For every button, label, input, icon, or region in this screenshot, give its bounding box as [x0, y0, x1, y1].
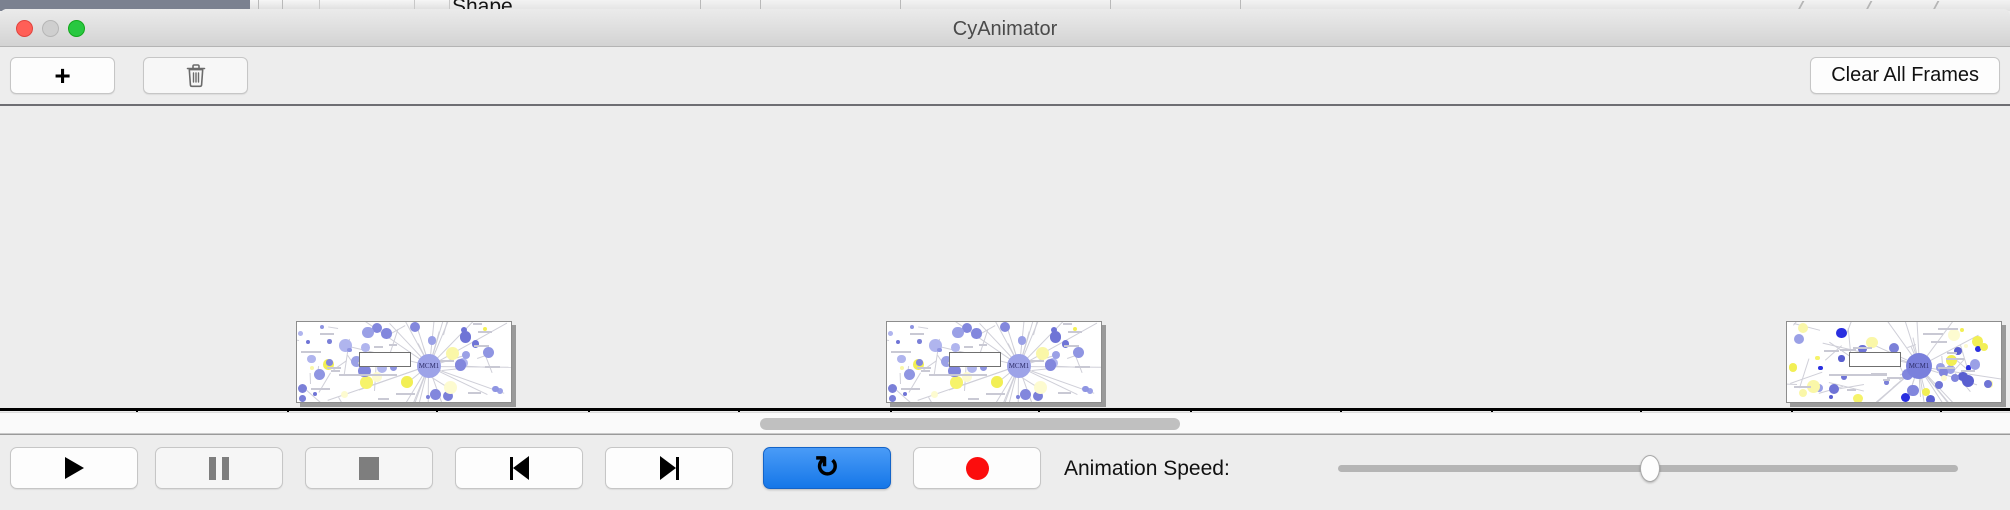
network-node — [1980, 343, 1988, 351]
play-button[interactable] — [10, 447, 138, 489]
timeline-scrollbar[interactable] — [0, 412, 2010, 434]
network-node — [1853, 394, 1862, 403]
window-title: CyAnimator — [0, 18, 2010, 41]
trash-icon — [185, 63, 207, 88]
animation-speed-label: Animation Speed: — [1064, 457, 1230, 481]
network-node — [381, 328, 391, 338]
loop-button[interactable]: ↻ — [763, 447, 891, 489]
network-node — [426, 395, 431, 400]
network-node — [314, 369, 326, 381]
network-node — [298, 384, 308, 394]
network-node — [401, 376, 413, 388]
add-frame-button[interactable]: + — [10, 57, 115, 94]
network-node — [492, 386, 498, 392]
playback-bar: ↻ Animation Speed: — [0, 434, 2010, 502]
network-node — [1829, 384, 1839, 394]
timeline-axis — [0, 408, 2010, 411]
network-node — [1941, 375, 1947, 381]
network-node — [310, 366, 314, 370]
network-node — [1836, 328, 1846, 338]
network-node — [1050, 331, 1062, 343]
network-node — [1829, 395, 1833, 399]
network-node — [430, 389, 441, 400]
network-hub-node: MCM1 — [417, 354, 441, 378]
network-node — [460, 331, 472, 343]
network-node — [462, 351, 470, 359]
network-node — [1960, 328, 1964, 332]
network-node — [900, 366, 904, 370]
record-button[interactable] — [913, 447, 1041, 489]
network-node — [1935, 381, 1943, 389]
network-node — [952, 327, 963, 338]
skip-start-button[interactable] — [455, 447, 583, 489]
network-node — [313, 392, 317, 396]
network-thumbnail-graphic: MCM1 — [1787, 322, 2001, 402]
network-node — [971, 328, 981, 338]
network-node — [1815, 356, 1819, 360]
skip-start-icon — [510, 456, 529, 480]
network-node — [320, 325, 324, 329]
network-node — [917, 339, 922, 344]
cyanimator-screen: Shape CyAnimator + — [0, 0, 2010, 510]
network-node — [1045, 359, 1057, 371]
title-bar: CyAnimator — [0, 9, 2010, 47]
network-node — [1789, 363, 1797, 371]
network-hub-node: MCM1 — [1007, 354, 1031, 378]
delete-frame-button[interactable] — [143, 57, 248, 94]
record-icon — [966, 457, 989, 480]
network-node — [951, 343, 960, 352]
network-node — [1073, 347, 1084, 358]
network-node — [991, 376, 1003, 388]
network-node — [937, 348, 942, 353]
network-node — [1907, 385, 1919, 397]
network-node — [1962, 375, 1974, 387]
timeline-panel[interactable]: MCM1MCM1MCM1 2131415161718 Seconds — [0, 106, 2010, 412]
network-node — [1020, 389, 1031, 400]
network-node — [1794, 334, 1804, 344]
network-node — [950, 376, 963, 389]
network-node — [910, 325, 914, 329]
network-node — [1838, 355, 1844, 361]
frame-canvas: MCM1 — [886, 321, 1102, 403]
network-node — [888, 384, 898, 394]
network-node — [903, 392, 907, 396]
network-node — [1970, 359, 1980, 369]
network-node — [1964, 344, 1968, 348]
clear-all-frames-button[interactable]: Clear All Frames — [1810, 57, 2000, 94]
network-node — [1016, 395, 1021, 400]
stop-button[interactable] — [305, 447, 433, 489]
network-node — [1948, 329, 1960, 341]
timeline-frame-thumbnail[interactable]: MCM1 — [296, 321, 516, 407]
frame-canvas: MCM1 — [1786, 321, 2002, 403]
network-node — [888, 331, 893, 336]
network-node — [931, 391, 938, 398]
cyanimator-window: CyAnimator + Clear All Frames MCM1MCM1MC… — [0, 9, 2010, 510]
network-node — [916, 359, 923, 366]
pause-button[interactable] — [155, 447, 283, 489]
frames-toolbar: + Clear All Frames — [0, 47, 2010, 104]
network-node — [1922, 388, 1930, 396]
network-node — [1799, 389, 1807, 397]
timeline-frame-thumbnail[interactable]: MCM1 — [886, 321, 1106, 407]
network-tooltip — [949, 352, 1001, 367]
network-node — [1034, 381, 1047, 394]
network-node — [896, 340, 901, 345]
animation-speed-slider-thumb[interactable] — [1640, 455, 1660, 482]
plus-icon: + — [54, 62, 70, 90]
network-node — [1946, 355, 1957, 366]
skip-end-button[interactable] — [605, 447, 733, 489]
network-node — [1818, 366, 1822, 370]
frame-canvas: MCM1 — [296, 321, 512, 403]
network-node — [306, 340, 311, 345]
network-node — [327, 339, 332, 344]
network-node — [904, 369, 916, 381]
network-node — [362, 327, 373, 338]
network-node — [889, 395, 896, 402]
network-node — [360, 376, 373, 389]
network-node — [299, 395, 306, 402]
network-thumbnail-graphic: MCM1 — [887, 322, 1101, 402]
network-node — [341, 391, 348, 398]
loop-icon: ↻ — [814, 453, 839, 483]
pause-icon — [209, 457, 229, 480]
network-hub-node: MCM1 — [1906, 353, 1932, 379]
network-thumbnail-graphic: MCM1 — [297, 322, 511, 402]
network-node — [1798, 323, 1808, 333]
network-node — [326, 359, 333, 366]
network-node — [1984, 380, 1992, 388]
scrollbar-thumb[interactable] — [760, 418, 1180, 430]
skip-end-icon — [660, 456, 679, 480]
network-node — [361, 343, 370, 352]
network-node — [1082, 386, 1088, 392]
network-node — [298, 331, 303, 336]
network-node — [444, 381, 457, 394]
stop-icon — [359, 457, 379, 480]
network-node — [1926, 395, 1935, 403]
network-node — [347, 348, 352, 353]
network-node — [1951, 374, 1959, 382]
network-node — [1052, 351, 1060, 359]
network-node — [307, 355, 316, 364]
network-node — [897, 355, 906, 364]
network-node — [483, 347, 494, 358]
play-icon — [65, 457, 84, 479]
network-node — [455, 359, 467, 371]
network-node — [1018, 336, 1027, 345]
network-tooltip — [359, 352, 411, 367]
network-tooltip — [1849, 352, 1901, 367]
network-node — [428, 336, 437, 345]
timeline-frame-thumbnail[interactable]: MCM1 — [1786, 321, 2006, 407]
